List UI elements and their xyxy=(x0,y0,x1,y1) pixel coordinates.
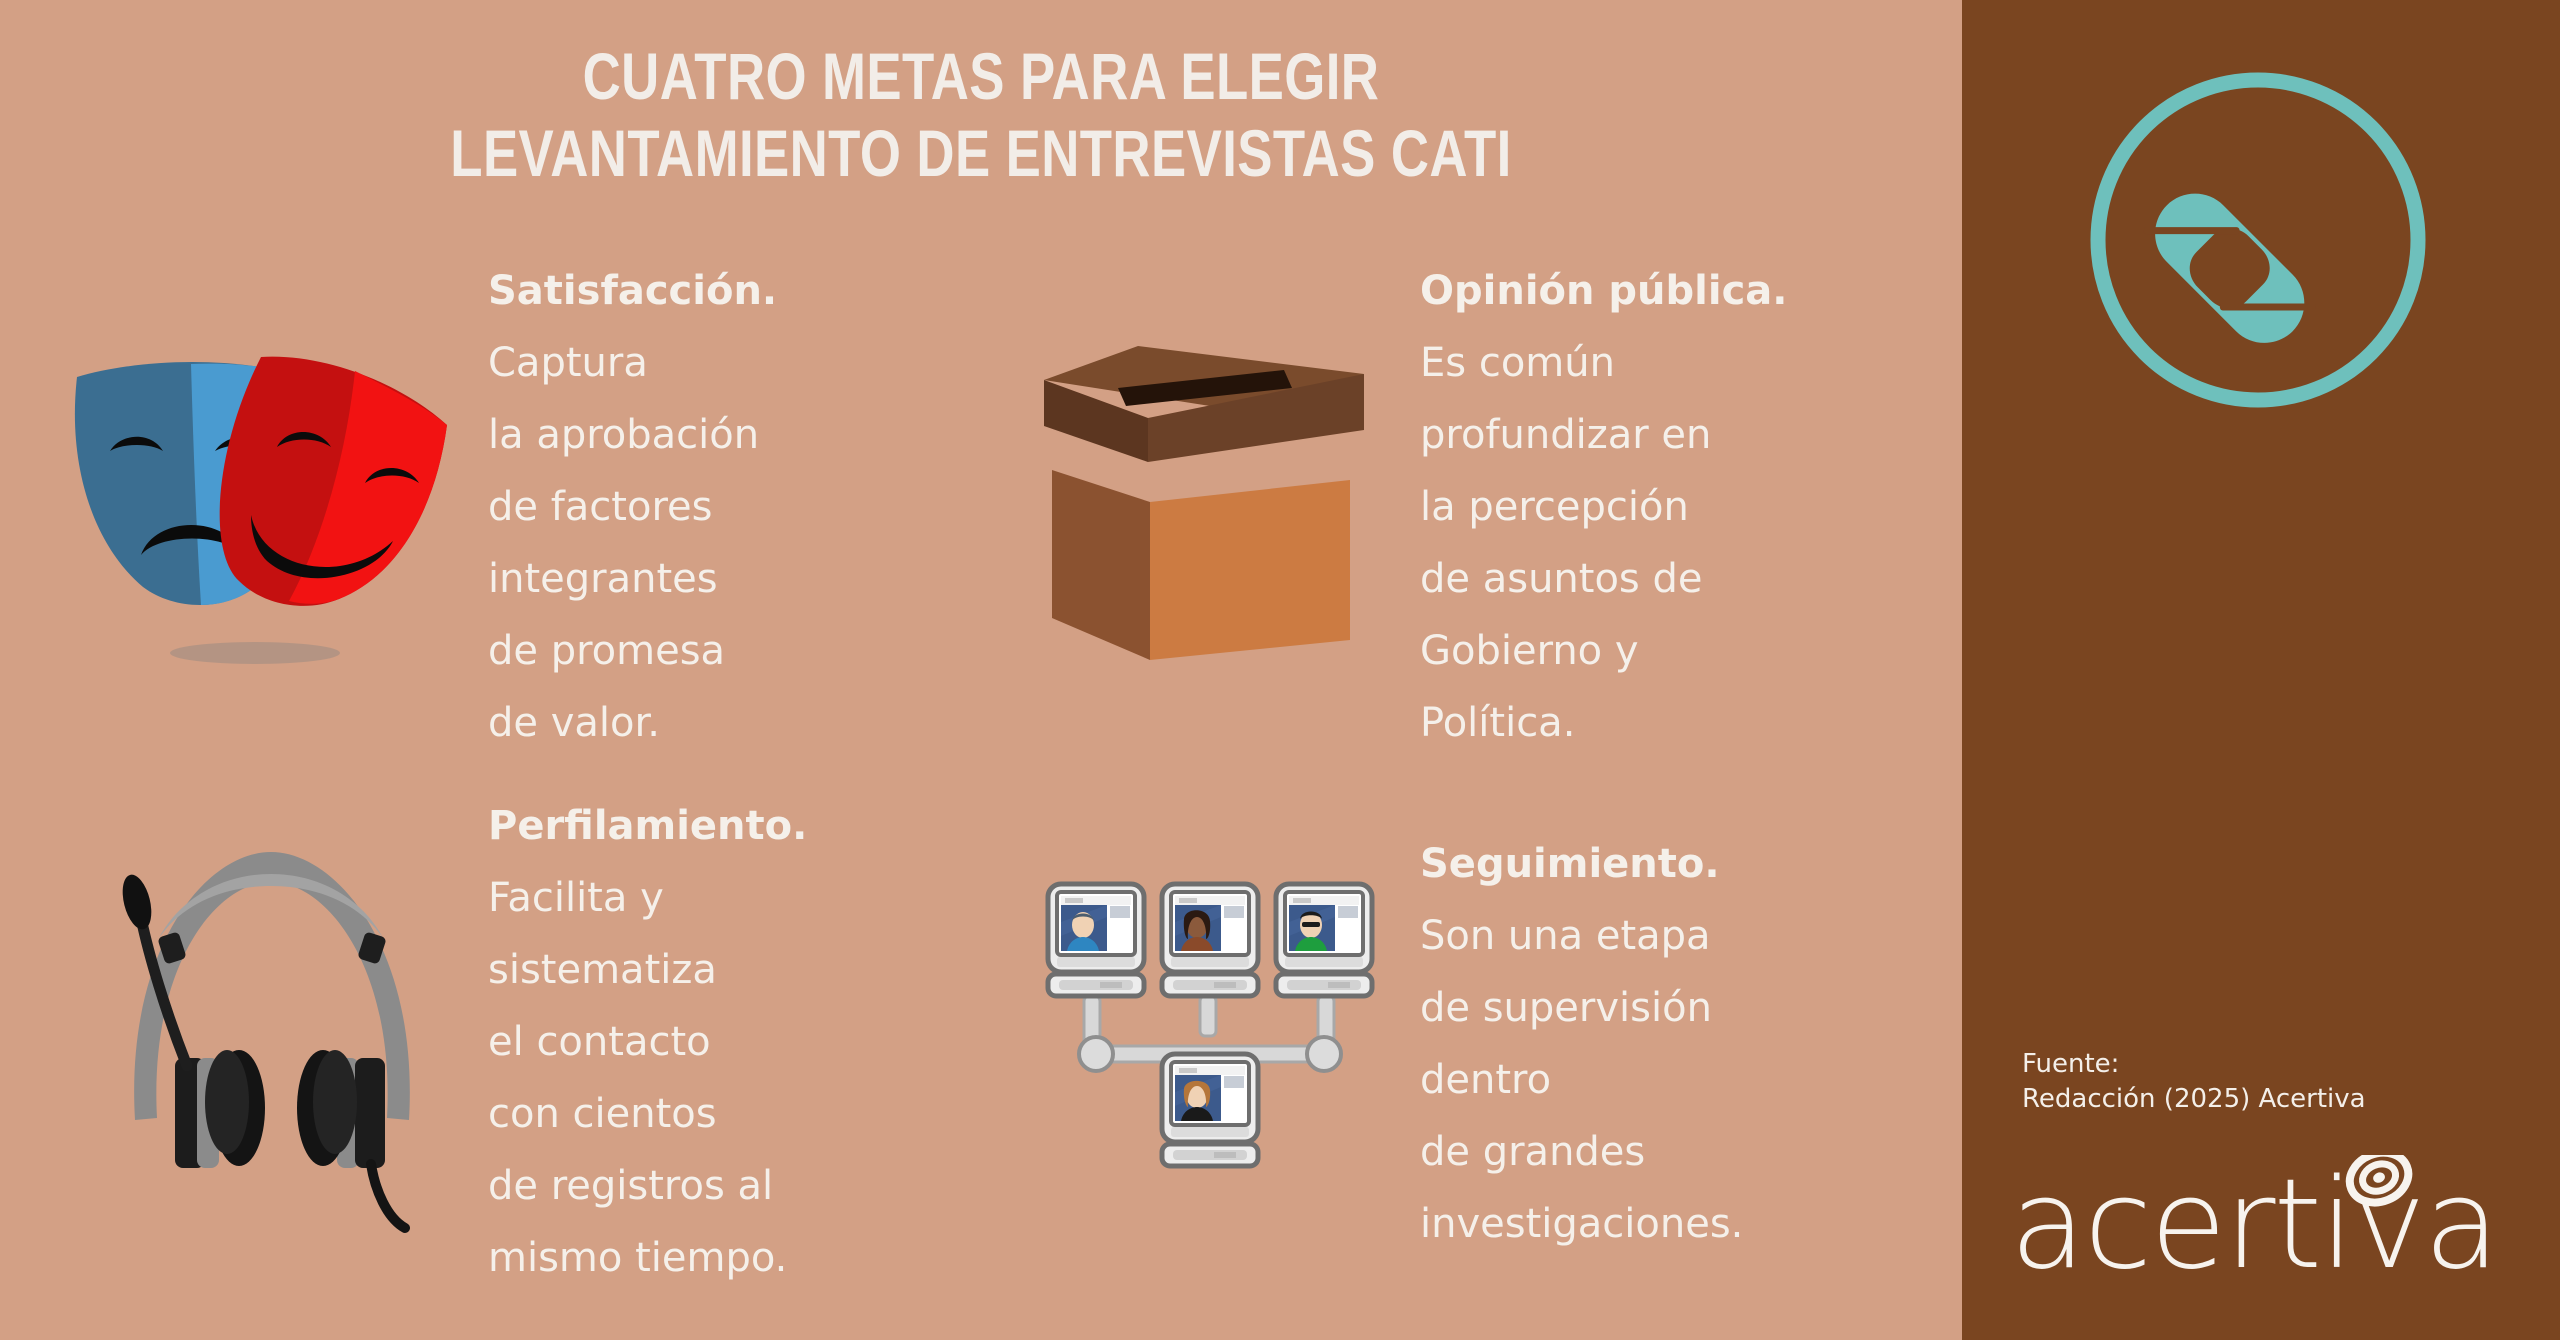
phone-handset-circle-icon xyxy=(2058,55,2458,425)
source-credit: Fuente: Redacción (2025) Acertiva xyxy=(2022,1047,2542,1117)
block-perfilamiento: Perfilamiento. Facilita y sistematiza el… xyxy=(488,790,928,1294)
acertiva-logo-text: acertiva xyxy=(2010,1155,2498,1295)
content-blocks: Satisfacción. Captura la aprobación de f… xyxy=(0,0,1962,1340)
block-satisfaccion-text: Satisfacción. Captura la aprobación de f… xyxy=(488,255,908,759)
block-opinion-publica-heading: Opinión pública. xyxy=(1420,268,1787,314)
block-seguimiento-heading: Seguimiento. xyxy=(1420,841,1720,887)
infographic-canvas: CUATRO METAS PARA ELEGIR LEVANTAMIENTO D… xyxy=(0,0,2560,1340)
block-opinion-publica-text: Opinión pública. Es común profundizar en… xyxy=(1420,255,1880,759)
block-perfilamiento-body: Facilita y sistematiza el contacto con c… xyxy=(488,875,787,1281)
block-opinion-publica: Opinión pública. Es común profundizar en… xyxy=(1420,255,1880,759)
acertiva-logo[interactable]: acertiva xyxy=(2010,1155,2530,1295)
block-opinion-publica-body: Es común profundizar en la percepción de… xyxy=(1420,340,1711,746)
block-seguimiento-text: Seguimiento. Son una etapa de supervisió… xyxy=(1420,828,1880,1260)
block-perfilamiento-heading: Perfilamiento. xyxy=(488,803,807,849)
block-perfilamiento-text: Perfilamiento. Facilita y sistematiza el… xyxy=(488,790,928,1294)
block-satisfaccion-body: Captura la aprobación de factores integr… xyxy=(488,340,759,746)
block-satisfaccion-heading: Satisfacción. xyxy=(488,268,777,314)
block-satisfaccion: Satisfacción. Captura la aprobación de f… xyxy=(488,255,908,759)
block-seguimiento: Seguimiento. Son una etapa de supervisió… xyxy=(1420,828,1880,1260)
block-seguimiento-body: Son una etapa de supervisión dentro de g… xyxy=(1420,913,1743,1247)
